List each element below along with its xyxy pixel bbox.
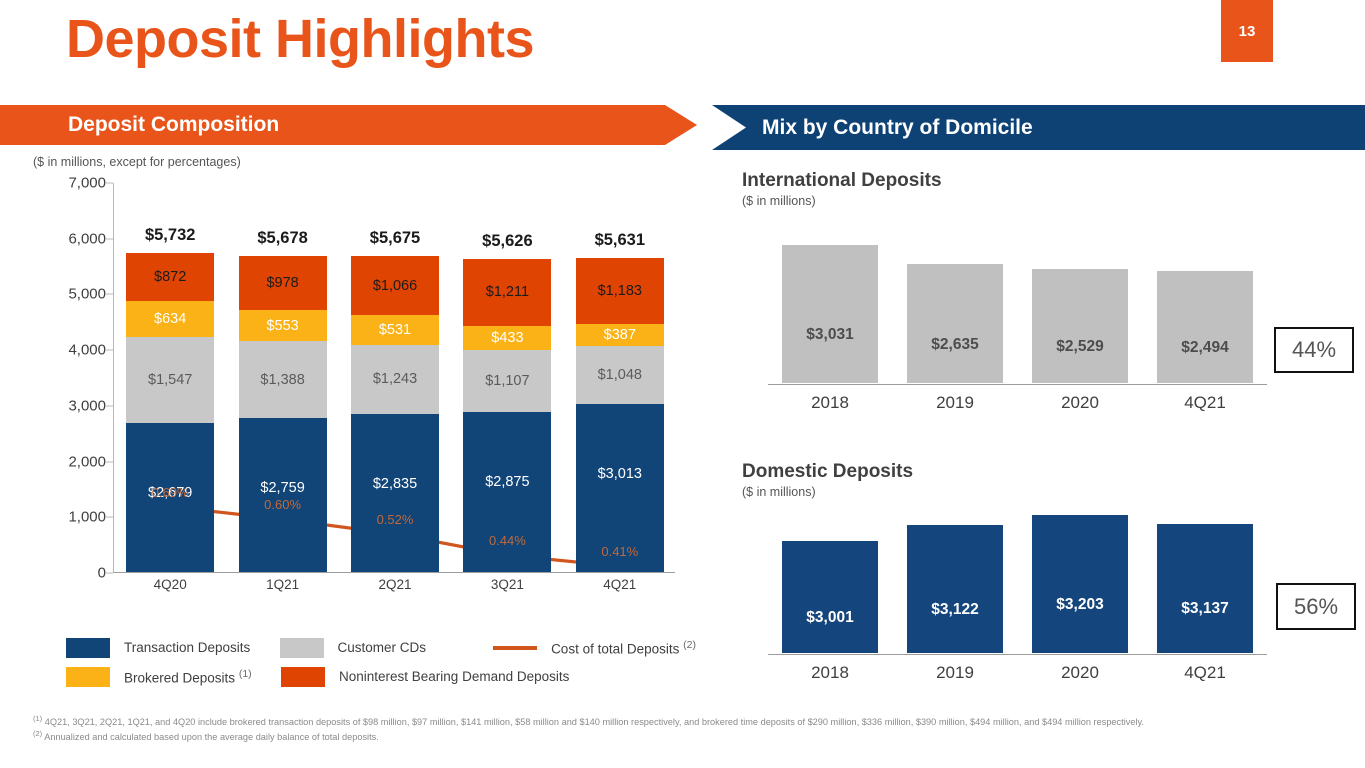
- cost-of-deposits-label: 0.69%: [126, 485, 214, 500]
- bar-segment-value: $978: [239, 275, 327, 291]
- bar-segment-value: $2,835: [351, 476, 439, 492]
- bar-value-label: $3,203: [1032, 596, 1128, 614]
- bar-value-label: $3,122: [907, 601, 1003, 619]
- stacked-bar: $3,013$1,048$387$1,183: [576, 258, 664, 572]
- x-axis-tick-label: 2018: [782, 663, 878, 683]
- bar-total-label: $5,678: [239, 229, 327, 248]
- bar-segment-value: $1,066: [351, 278, 439, 294]
- bar-total-label: $5,675: [351, 229, 439, 248]
- y-axis-tick-label: 4,000: [68, 342, 106, 359]
- axis-baseline: [768, 384, 1267, 386]
- bar-segment-cds: $1,107: [463, 350, 551, 412]
- y-axis-tick-label: 7,000: [68, 175, 106, 192]
- bar-segment-value: $2,759: [239, 480, 327, 496]
- bar-segment-nib: $872: [126, 253, 214, 302]
- bar: $3,031: [782, 245, 878, 383]
- footnote-2: (2) Annualized and calculated based upon…: [33, 729, 1333, 744]
- x-axis-tick-label: 2019: [907, 663, 1003, 683]
- y-axis-tick: [106, 183, 113, 184]
- page-title: Deposit Highlights: [66, 8, 534, 70]
- y-axis-tick-label: 1,000: [68, 509, 106, 526]
- legend-item-transaction-deposits: Transaction Deposits: [66, 638, 280, 658]
- bar-value-label: $3,137: [1157, 600, 1253, 618]
- bar-segment-brokered: $433: [463, 326, 551, 350]
- bar: $2,635: [907, 264, 1003, 383]
- bar-segment-value: $1,547: [126, 372, 214, 388]
- y-axis-tick-label: 0: [98, 565, 106, 582]
- cost-of-deposits-label: 0.44%: [463, 533, 551, 548]
- legend-label-transaction: Transaction Deposits: [124, 640, 250, 655]
- bar-total-label: $5,631: [576, 231, 664, 250]
- stacked-bar: $2,875$1,107$433$1,211: [463, 259, 551, 572]
- x-axis-tick-label: 4Q21: [576, 577, 664, 592]
- bar-segment-brokered: $553: [239, 310, 327, 341]
- legend-label-customer-cds: Customer CDs: [338, 640, 427, 655]
- left-units-note: ($ in millions, except for percentages): [33, 155, 241, 169]
- bar-segment-value: $433: [463, 330, 551, 346]
- domestic-deposits-chart: $3,0012018$3,1222019$3,2032020$3,1374Q21: [768, 515, 1273, 655]
- bar-segment-nib: $1,066: [351, 256, 439, 315]
- bar-segment-nib: $1,183: [576, 258, 664, 324]
- bar: $3,137: [1157, 524, 1253, 654]
- chart-legend: Transaction Deposits Customer CDs Cost o…: [66, 633, 696, 691]
- x-axis-tick-label: 2Q21: [351, 577, 439, 592]
- bar-segment-nib: $978: [239, 256, 327, 310]
- bar-segment-value: $2,875: [463, 474, 551, 490]
- legend-item-brokered-deposits: Brokered Deposits (1): [66, 667, 281, 687]
- deposit-composition-chart: $2,679$1,547$634$872$5,7320.69%4Q20$2,75…: [28, 183, 688, 595]
- y-axis-tick: [106, 294, 113, 295]
- international-deposits-units: ($ in millions): [742, 194, 816, 208]
- bar: $3,001: [782, 541, 878, 653]
- legend-label-brokered: Brokered Deposits (1): [124, 668, 252, 686]
- x-axis-tick-label: 4Q20: [126, 577, 214, 592]
- legend-item-nib-deposits: Noninterest Bearing Demand Deposits: [281, 667, 569, 687]
- bar-segment-cds: $1,048: [576, 346, 664, 404]
- plot-area: $2,679$1,547$634$872$5,7320.69%4Q20$2,75…: [113, 183, 675, 573]
- bar-segment-nib: $1,211: [463, 259, 551, 326]
- international-share-box: 44%: [1274, 327, 1354, 373]
- bar-segment-value: $872: [126, 269, 214, 285]
- y-axis-tick: [106, 238, 113, 239]
- y-axis-tick: [106, 517, 113, 518]
- bar-total-label: $5,626: [463, 232, 551, 251]
- cost-of-deposits-label: 0.60%: [239, 497, 327, 512]
- bar: $2,494: [1157, 271, 1253, 383]
- bar-segment-transaction: $2,759: [239, 418, 327, 572]
- stacked-bar: $2,679$1,547$634$872: [126, 253, 214, 572]
- bar-total-label: $5,732: [126, 226, 214, 245]
- y-axis-tick-label: 6,000: [68, 230, 106, 247]
- legend-label-nib: Noninterest Bearing Demand Deposits: [339, 669, 569, 684]
- bar: $3,203: [1032, 515, 1128, 653]
- legend-item-cost-of-deposits: Cost of total Deposits (2): [493, 639, 696, 657]
- bar-segment-cds: $1,243: [351, 345, 439, 414]
- x-axis-tick-label: 2020: [1032, 663, 1128, 683]
- bar-segment-transaction: $2,835: [351, 414, 439, 572]
- bar-segment-value: $3,013: [576, 466, 664, 482]
- banner-left-label: Deposit Composition: [68, 113, 279, 137]
- bar-segment-value: $1,211: [463, 284, 551, 300]
- bar-value-label: $3,031: [782, 326, 878, 344]
- bar-segment-cds: $1,388: [239, 341, 327, 418]
- x-axis-tick-label: 4Q21: [1157, 663, 1253, 683]
- bar-value-label: $3,001: [782, 609, 878, 627]
- legend-swatch-cds-icon: [280, 638, 324, 658]
- bar-segment-brokered: $387: [576, 324, 664, 346]
- y-axis-tick: [106, 405, 113, 406]
- page-number-badge: 13: [1221, 0, 1273, 62]
- bar-segment-value: $1,243: [351, 371, 439, 387]
- x-axis-tick-label: 2020: [1032, 393, 1128, 413]
- legend-label-cost-line: Cost of total Deposits (2): [551, 639, 696, 657]
- legend-swatch-transaction-icon: [66, 638, 110, 658]
- bar-segment-value: $1,388: [239, 372, 327, 388]
- bar-segment-value: $634: [126, 311, 214, 327]
- y-axis-tick-label: 5,000: [68, 286, 106, 303]
- section-banner-mix-by-country: Mix by Country of Domicile: [712, 105, 1365, 150]
- international-deposits-chart: $3,0312018$2,6352019$2,5292020$2,4944Q21: [768, 245, 1273, 385]
- x-axis-tick-label: 3Q21: [463, 577, 551, 592]
- bar-segment-value: $531: [351, 322, 439, 338]
- bar: $3,122: [907, 525, 1003, 653]
- footnote-1: (1) 4Q21, 3Q21, 2Q21, 1Q21, and 4Q20 inc…: [33, 714, 1333, 729]
- y-axis-tick-label: 3,000: [68, 397, 106, 414]
- section-banner-deposit-composition: Deposit Composition: [0, 105, 697, 145]
- bar-segment-brokered: $531: [351, 315, 439, 345]
- bar-segment-value: $1,107: [463, 373, 551, 389]
- bar-segment-brokered: $634: [126, 301, 214, 336]
- legend-swatch-nib-icon: [281, 667, 325, 687]
- bar: $2,529: [1032, 269, 1128, 383]
- domestic-deposits-units: ($ in millions): [742, 485, 816, 499]
- bar-value-label: $2,529: [1032, 338, 1128, 356]
- x-axis-tick-label: 2019: [907, 393, 1003, 413]
- y-axis-tick: [106, 350, 113, 351]
- international-deposits-title: International Deposits: [742, 170, 942, 192]
- y-axis-tick-label: 2,000: [68, 453, 106, 470]
- x-axis-tick-label: 2018: [782, 393, 878, 413]
- legend-swatch-brokered-icon: [66, 667, 110, 687]
- bar-segment-value: $1,048: [576, 367, 664, 383]
- bar-segment-value: $387: [576, 327, 664, 343]
- cost-of-deposits-label: 0.52%: [351, 512, 439, 527]
- x-axis-tick-label: 4Q21: [1157, 393, 1253, 413]
- cost-of-deposits-label: 0.41%: [576, 544, 664, 559]
- bar-value-label: $2,635: [907, 336, 1003, 354]
- stacked-bar: $2,759$1,388$553$978: [239, 256, 327, 572]
- legend-swatch-cost-line-icon: [493, 646, 537, 650]
- footnotes: (1) 4Q21, 3Q21, 2Q21, 1Q21, and 4Q20 inc…: [33, 714, 1333, 744]
- banner-right-label: Mix by Country of Domicile: [762, 116, 1033, 140]
- axis-baseline: [768, 654, 1267, 656]
- bar-segment-value: $553: [239, 318, 327, 334]
- bar-value-label: $2,494: [1157, 339, 1253, 357]
- domestic-deposits-title: Domestic Deposits: [742, 461, 913, 483]
- y-axis-tick: [106, 573, 113, 574]
- domestic-share-box: 56%: [1276, 583, 1356, 630]
- bar-segment-cds: $1,547: [126, 337, 214, 423]
- legend-item-customer-cds: Customer CDs: [280, 638, 494, 658]
- bar-segment-value: $1,183: [576, 283, 664, 299]
- x-axis-tick-label: 1Q21: [239, 577, 327, 592]
- y-axis-tick: [106, 461, 113, 462]
